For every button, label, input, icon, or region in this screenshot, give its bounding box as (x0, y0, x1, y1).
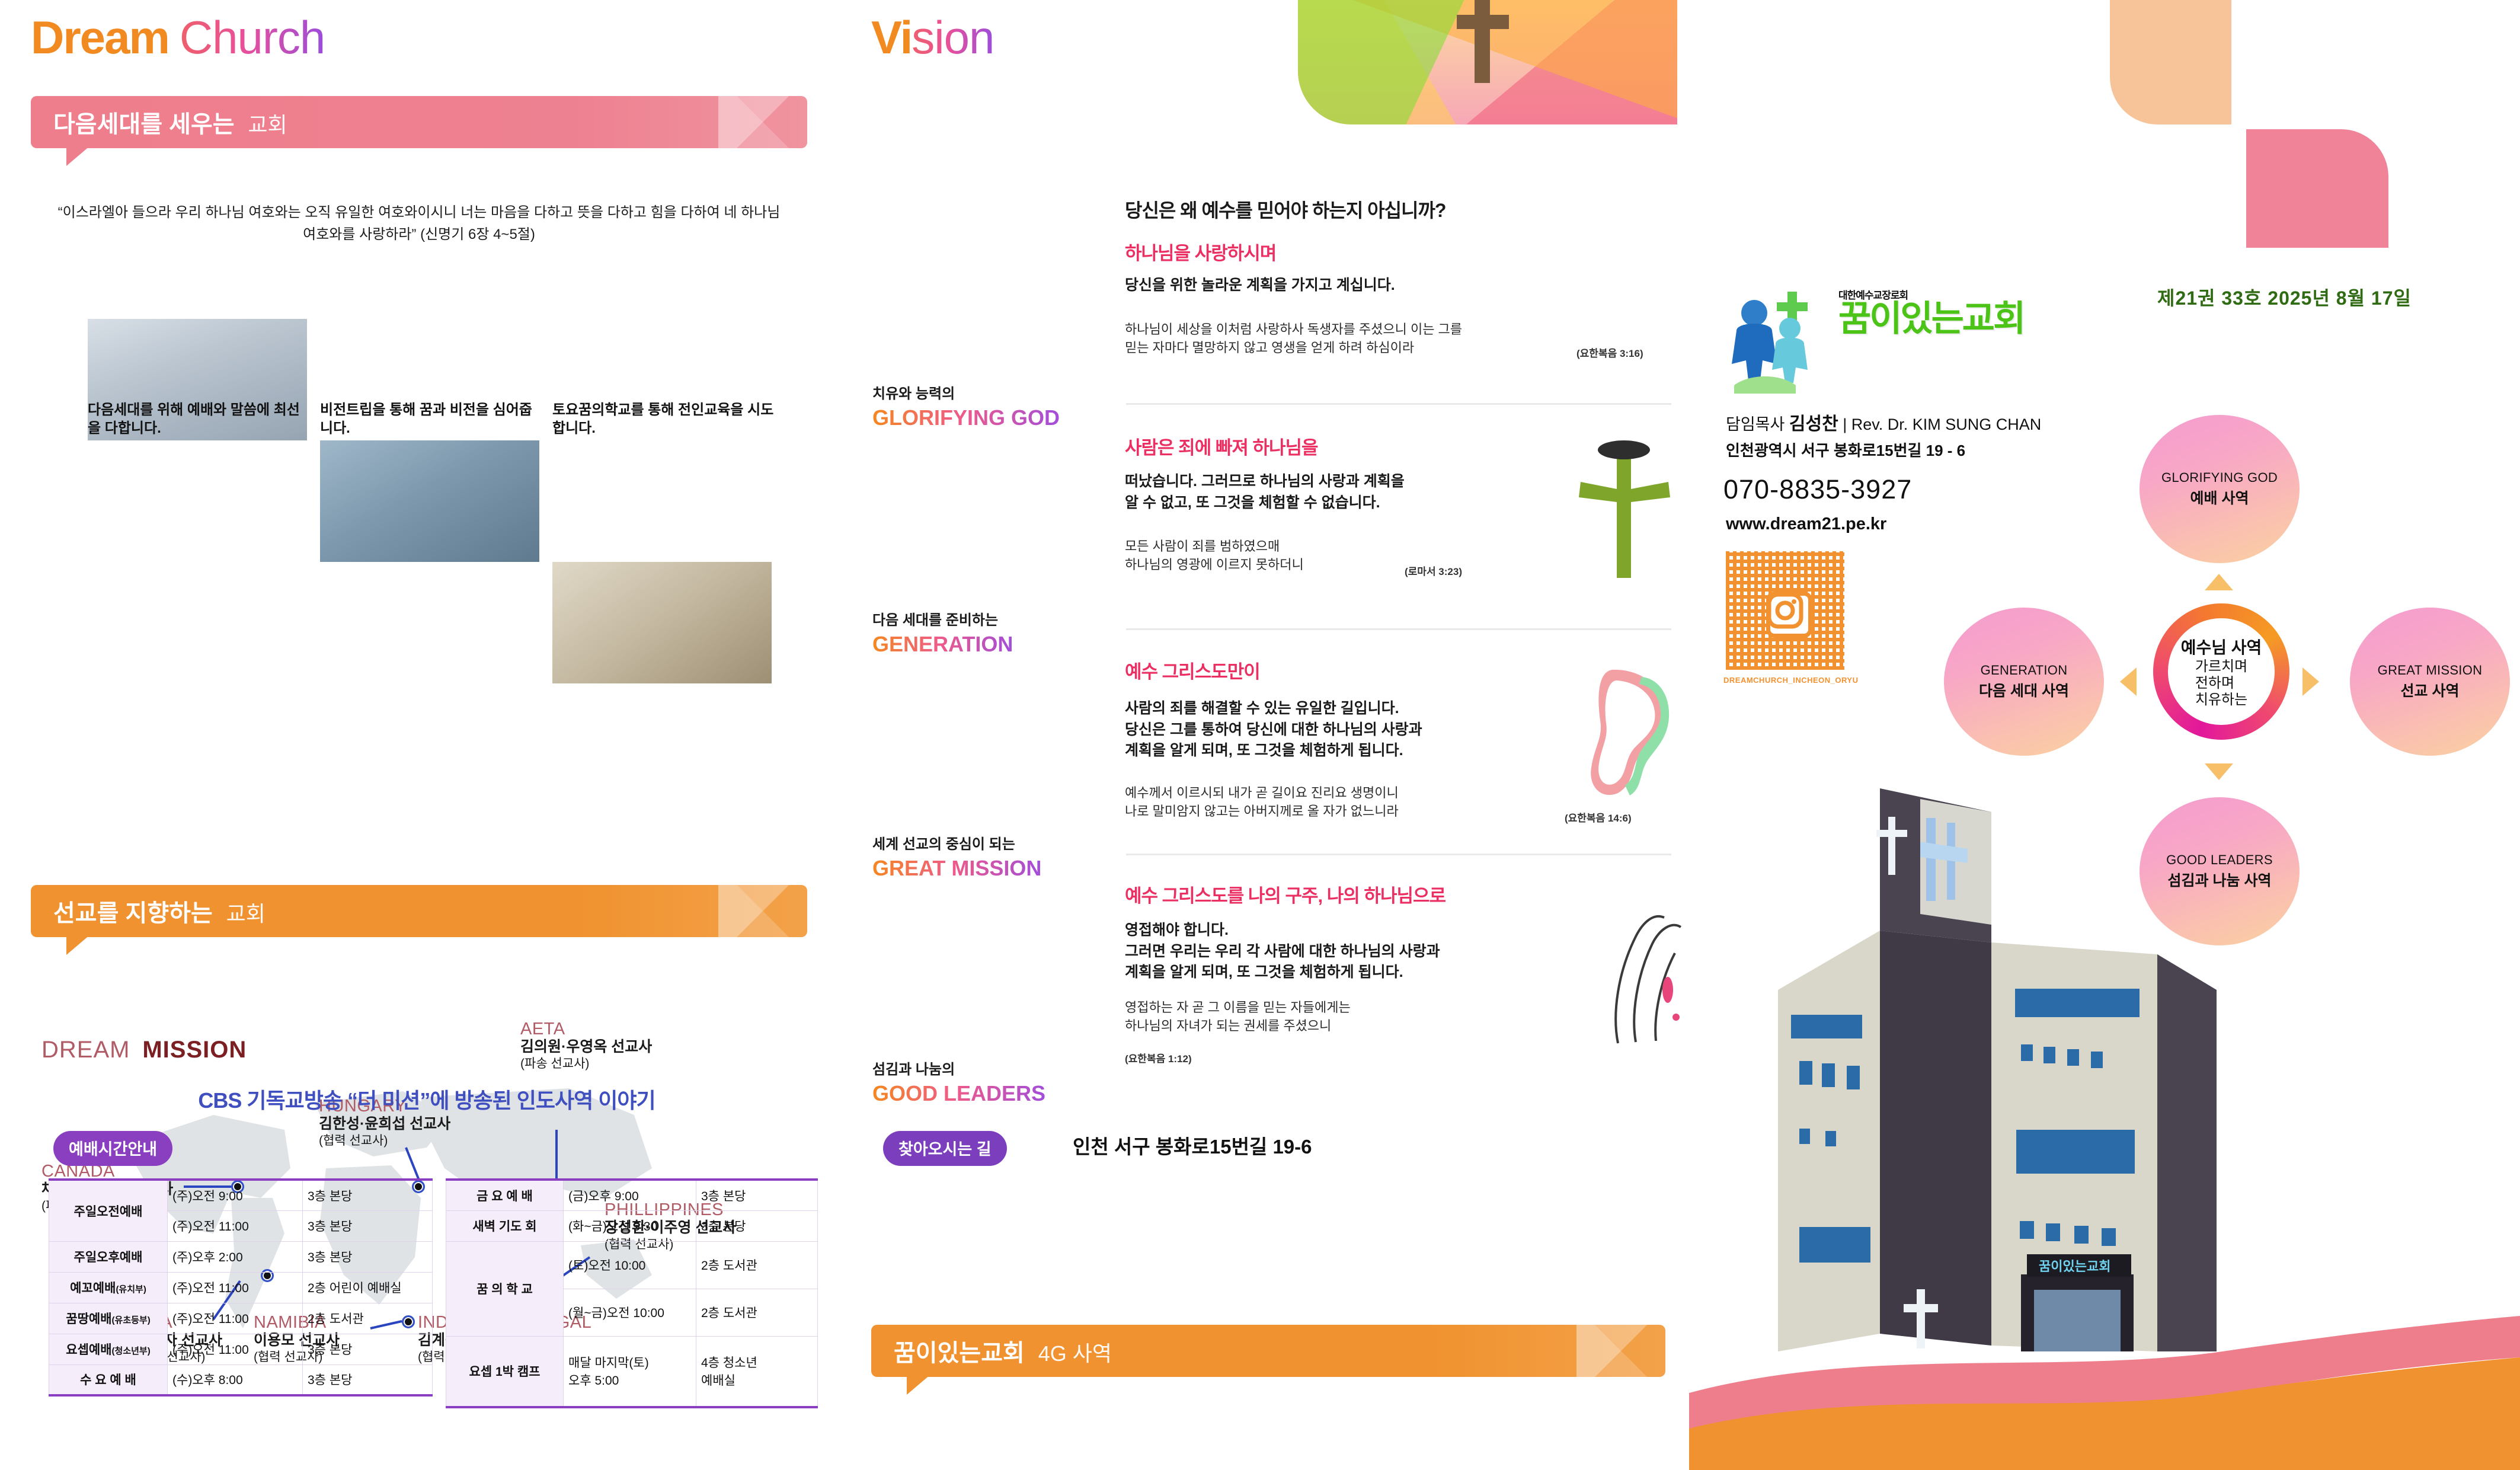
schedule-name: 주일오전예배 (49, 1180, 168, 1241)
table-row: 금 요 예 배 (금)오후 9:00 3층 본당 (446, 1180, 818, 1210)
brand-word-dream: Dream (31, 11, 169, 63)
schedule-table-left: 주일오전예배 (주)오전 9:00 3층 본당 (주)오전 11:00 3층 본… (49, 1178, 433, 1396)
church-telephone: 070-8835-3927 (1723, 474, 1912, 505)
banner-light: 4G 사역 (1038, 1341, 1112, 1366)
brand-word-sion: sion (912, 11, 994, 63)
vision-ref-4: (요한복음 1:12) (1125, 1050, 1192, 1065)
vision-ref-3: (요한복음 14:6) (1565, 810, 1632, 825)
diagram-node-glorifying-god: GLORIFYING GOD 예배 사역 (2140, 415, 2300, 563)
church-logo: 대한예수교장로회 꿈이있는교회 (1726, 279, 2058, 391)
vision-en-4: GOOD LEADERS (872, 1081, 1045, 1106)
vision-sub-1: 치유와 능력의 (872, 382, 955, 402)
photo-caption-3: 토요꿈의학교를 통해 전인교육을 시도합니다. (552, 401, 774, 437)
schedule-time: (주)오전 11:00 (168, 1303, 303, 1334)
schedule-time: (월~금)오전 10:00 (564, 1289, 696, 1336)
diagram-node-en: GENERATION (1981, 663, 2068, 678)
schedule-name: 금 요 예 배 (446, 1180, 564, 1210)
photo-vision-trip (320, 440, 539, 562)
table-row: 주일오후예배 (주)오후 2:00 3층 본당 (49, 1241, 433, 1272)
schedule-place: 2층 도서관 (696, 1289, 818, 1336)
church-address-line: 인천 서구 봉화로15번길 19-6 (1073, 1131, 1312, 1159)
schedule-place: 3층 본당 (303, 1210, 433, 1241)
mission-type: (파송 선교사) (520, 1056, 716, 1071)
decorative-wave (1689, 1280, 2520, 1470)
vision-en-3: GREAT MISSION (872, 856, 1041, 881)
table-row: 꿈 의 학 교 (토)오전 10:00 2층 도서관 (446, 1241, 818, 1289)
mission-type: (협력 선교사) (319, 1133, 509, 1148)
church-logo-name: 꿈이있는교회 (1838, 301, 2024, 337)
schedule-place: 3층 본당 (696, 1210, 818, 1241)
photo-caption-2: 비전트립을 통해 꿈과 비전을 심어줍니다. (320, 401, 542, 437)
directions-badge-wrap: 찾아오시는 길 (883, 1131, 1007, 1166)
mission-names: 김한성·윤희섭 선교사 (319, 1115, 509, 1133)
schedule-place: 4층 청소년 예배실 (696, 1336, 818, 1407)
vision-logo: Vision (871, 11, 994, 65)
schedule-time: (토)오전 10:00 (564, 1241, 696, 1289)
table-row: 예꼬예배(유치부) (주)오전 11:00 2층 어린이 예배실 (49, 1272, 433, 1303)
worship-schedule-badge: 예배시간안내 (53, 1131, 172, 1166)
dream-mission-word2: MISSION (142, 1037, 247, 1063)
diagram-node-generation: GENERATION 다음 세대 사역 (1944, 608, 2104, 756)
vision-question-1: 당신은 왜 예수를 믿어야 하는지 아십니까? (1125, 196, 1658, 223)
banner-4g-ministry: 꿈이있는교회 4G 사역 (871, 1325, 1665, 1377)
schedule-name: 새벽 기도 회 (446, 1210, 564, 1241)
issue-number-date: 제21권 33호 2025년 8월 17일 (2157, 283, 2412, 311)
table-row: 수 요 예 배 (수)오후 8:00 3층 본당 (49, 1364, 433, 1395)
schedule-place: 3층 본당 (303, 1241, 433, 1272)
vision-divider-3 (1126, 854, 1671, 855)
brand-word-vi: Vi (871, 11, 912, 63)
banner-strong: 선교를 지향하는 (53, 900, 213, 926)
banner-tail (907, 1375, 930, 1395)
schedule-time: (주)오전 9:00 (168, 1180, 303, 1210)
cross-icon (1446, 0, 1517, 113)
diagram-node-en: GREAT MISSION (2378, 663, 2483, 678)
schedule-name-sub: (청소년부) (112, 1346, 151, 1356)
arrow-right-icon (2302, 667, 2319, 696)
schedule-place: 2층 도서관 (303, 1303, 433, 1334)
schedule-name-text: 꿈땅예배 (66, 1312, 111, 1326)
schedule-table-right-wrap: 금 요 예 배 (금)오후 9:00 3층 본당 새벽 기도 회 (화~금)오전… (446, 1178, 818, 1408)
schedule-time: (화~금)오전 5:30 (564, 1210, 696, 1241)
schedule-name: 꿈땅예배(유초등부) (49, 1303, 168, 1334)
banner-tail (66, 146, 90, 166)
church-website: www.dream21.pe.kr (1726, 514, 1886, 534)
schedule-name: 꿈 의 학 교 (446, 1241, 564, 1336)
decorative-cross-image (1298, 0, 1677, 124)
brand-word-church: Church (180, 11, 325, 63)
church-logo-people-icon (1726, 286, 1838, 395)
banner-text: 꿈이있는교회 4G 사역 (871, 1334, 1112, 1368)
banner-strong: 다음세대를 세우는 (53, 111, 235, 138)
decorative-square-peach (2110, 0, 2231, 124)
schedule-name-text: 예꼬예배 (70, 1282, 116, 1295)
vision-en-1: GLORIFYING GOD (872, 405, 1060, 430)
schedule-place: 3층 본당 (303, 1334, 433, 1364)
mission-label-aeta: AETA 김의원·우영옥 선교사 (파송 선교사) (520, 1020, 716, 1071)
schedule-place: 2층 도서관 (696, 1241, 818, 1289)
schedule-place: 3층 본당 (303, 1180, 433, 1210)
dream-mission-title: DREAM MISSION (41, 1037, 247, 1063)
schedule-table-left-wrap: 주일오전예배 (주)오전 9:00 3층 본당 (주)오전 11:00 3층 본… (49, 1178, 433, 1396)
pastor-label: 담임목사 (1726, 416, 1785, 433)
schedule-time: (주)오전 11:00 (168, 1334, 303, 1364)
vision-headline-1: 하나님을 사랑하시며 (1125, 238, 1658, 265)
schedule-time: (주)오후 2:00 (168, 1241, 303, 1272)
diagram-center-inner: 예수님 사역 가르치며 전하며 치유하는 (2168, 618, 2274, 724)
pastor-divider: | (1843, 416, 1847, 433)
schedule-time: 매달 마지막(토) 오후 5:00 (564, 1336, 696, 1407)
vision-divider-2 (1126, 628, 1671, 630)
pastor-name: 김성찬 (1789, 414, 1838, 434)
diagram-node-en: GLORIFYING GOD (2161, 470, 2278, 485)
vision-sub-4: 섬김과 나눔의 (872, 1057, 955, 1078)
banner-light: 교회 (248, 113, 287, 137)
diagram-node-great-mission: GREAT MISSION 선교 사역 (2350, 608, 2510, 756)
schedule-time: (금)오후 9:00 (564, 1180, 696, 1210)
diagram-node-kr: 선교 사역 (2401, 679, 2460, 701)
table-row: 요셉예배(청소년부) (주)오전 11:00 3층 본당 (49, 1334, 433, 1364)
banner-next-generation: 다음세대를 세우는 교회 (31, 96, 807, 148)
schedule-name-text: 요셉예배 (66, 1343, 111, 1357)
qr-caption: DREAMCHURCH_INCHEON_ORYU (1723, 676, 1858, 685)
schedule-time: (수)오후 8:00 (168, 1364, 303, 1395)
table-row: 새벽 기도 회 (화~금)오전 5:30 3층 본당 (446, 1210, 818, 1241)
photo-saturday-dream-school (552, 562, 772, 683)
dream-church-logo: DreamChurch (31, 11, 325, 65)
schedule-name-sub: (유초등부) (112, 1315, 151, 1325)
vision-ref-1: (요한복음 3:16) (1576, 345, 1643, 360)
korea-map-icon (1571, 664, 1683, 800)
instagram-icon (1767, 592, 1803, 629)
banner-light: 교회 (226, 902, 266, 926)
schedule-place: 2층 어린이 예배실 (303, 1272, 433, 1303)
diagram-node-kr: 예배 사역 (2190, 487, 2249, 508)
diagram-center-lines: 가르치며 전하며 치유하는 (2195, 659, 2247, 709)
schedule-place: 3층 본당 (696, 1180, 818, 1210)
schedule-name-sub: (유치부) (116, 1284, 146, 1295)
mission-names: 김의원·우영옥 선교사 (520, 1038, 716, 1056)
brochure-page: DreamChurch 다음세대를 세우는 교회 “이스라엘아 들으라 우리 하… (0, 0, 2520, 1470)
banner-text: 다음세대를 세우는 교회 (31, 105, 287, 139)
table-row: 주일오전예배 (주)오전 9:00 3층 본당 (49, 1180, 433, 1210)
decorative-square-pink (2246, 129, 2388, 248)
arrow-left-icon (2120, 667, 2137, 696)
schedule-name: 수 요 예 배 (49, 1364, 168, 1395)
scripture-verse: “이스라엘아 들으라 우리 하나님 여호와는 오직 유일한 여호와이시니 너는 … (55, 202, 783, 245)
banner-tail (66, 935, 90, 955)
schedule-name: 요셉 1박 캠프 (446, 1336, 564, 1407)
schedule-table-right: 금 요 예 배 (금)오후 9:00 3층 본당 새벽 기도 회 (화~금)오전… (446, 1178, 818, 1408)
banner-strong: 꿈이있는교회 (894, 1340, 1025, 1366)
cbs-broadcast-caption: CBS 기독교방송 “더 미션”에 방송된 인도사역 이야기 (36, 1084, 818, 1114)
banner-mission-oriented: 선교를 지향하는 교회 (31, 885, 807, 937)
schedule-badge-wrap: 예배시간안내 (53, 1131, 172, 1166)
schedule-name: 주일오후예배 (49, 1241, 168, 1272)
instagram-qr-code[interactable] (1726, 551, 1844, 670)
vision-body-1: 당신을 위한 놀라운 계획을 가지고 계십니다. (1125, 275, 1670, 296)
schedule-place: 3층 본당 (303, 1364, 433, 1395)
directions-badge: 찾아오시는 길 (883, 1131, 1007, 1166)
schedule-name: 요셉예배(청소년부) (49, 1334, 168, 1364)
table-row: 꿈땅예배(유초등부) (주)오전 11:00 2층 도서관 (49, 1303, 433, 1334)
svg-text:꿈이있는교회: 꿈이있는교회 (2039, 1259, 2110, 1274)
table-row: 요셉 1박 캠프 매달 마지막(토) 오후 5:00 4층 청소년 예배실 (446, 1336, 818, 1407)
schedule-name-text: 주일오전예배 (74, 1205, 143, 1219)
vision-ref-2: (로마서 3:23) (1405, 563, 1462, 578)
schedule-time: (주)오전 11:00 (168, 1210, 303, 1241)
diagram-center: 예수님 사역 가르치며 전하며 치유하는 (2153, 603, 2289, 740)
diagram-center-title: 예수님 사역 (2181, 635, 2262, 659)
arrow-up-icon (2205, 574, 2233, 590)
vision-divider-1 (1126, 403, 1671, 405)
schedule-name: 예꼬예배(유치부) (49, 1272, 168, 1303)
cross-green-icon (1565, 436, 1683, 590)
vision-en-2: GENERATION (872, 632, 1013, 657)
vision-sub-3: 세계 선교의 중심이 되는 (872, 832, 1015, 853)
banner-text: 선교를 지향하는 교회 (31, 894, 266, 928)
dream-mission-word1: DREAM (41, 1037, 130, 1063)
praying-hands-icon (1594, 901, 1701, 1049)
schedule-time: (주)오전 11:00 (168, 1272, 303, 1303)
diagram-node-kr: 다음 세대 사역 (1979, 679, 2069, 701)
wave-shape (1689, 1280, 2520, 1470)
mission-country: AETA (520, 1020, 716, 1038)
photo-caption-1: 다음세대를 위해 예배와 말씀에 최선을 다합니다. (88, 401, 309, 437)
vision-sub-2: 다음 세대를 준비하는 (872, 608, 998, 629)
